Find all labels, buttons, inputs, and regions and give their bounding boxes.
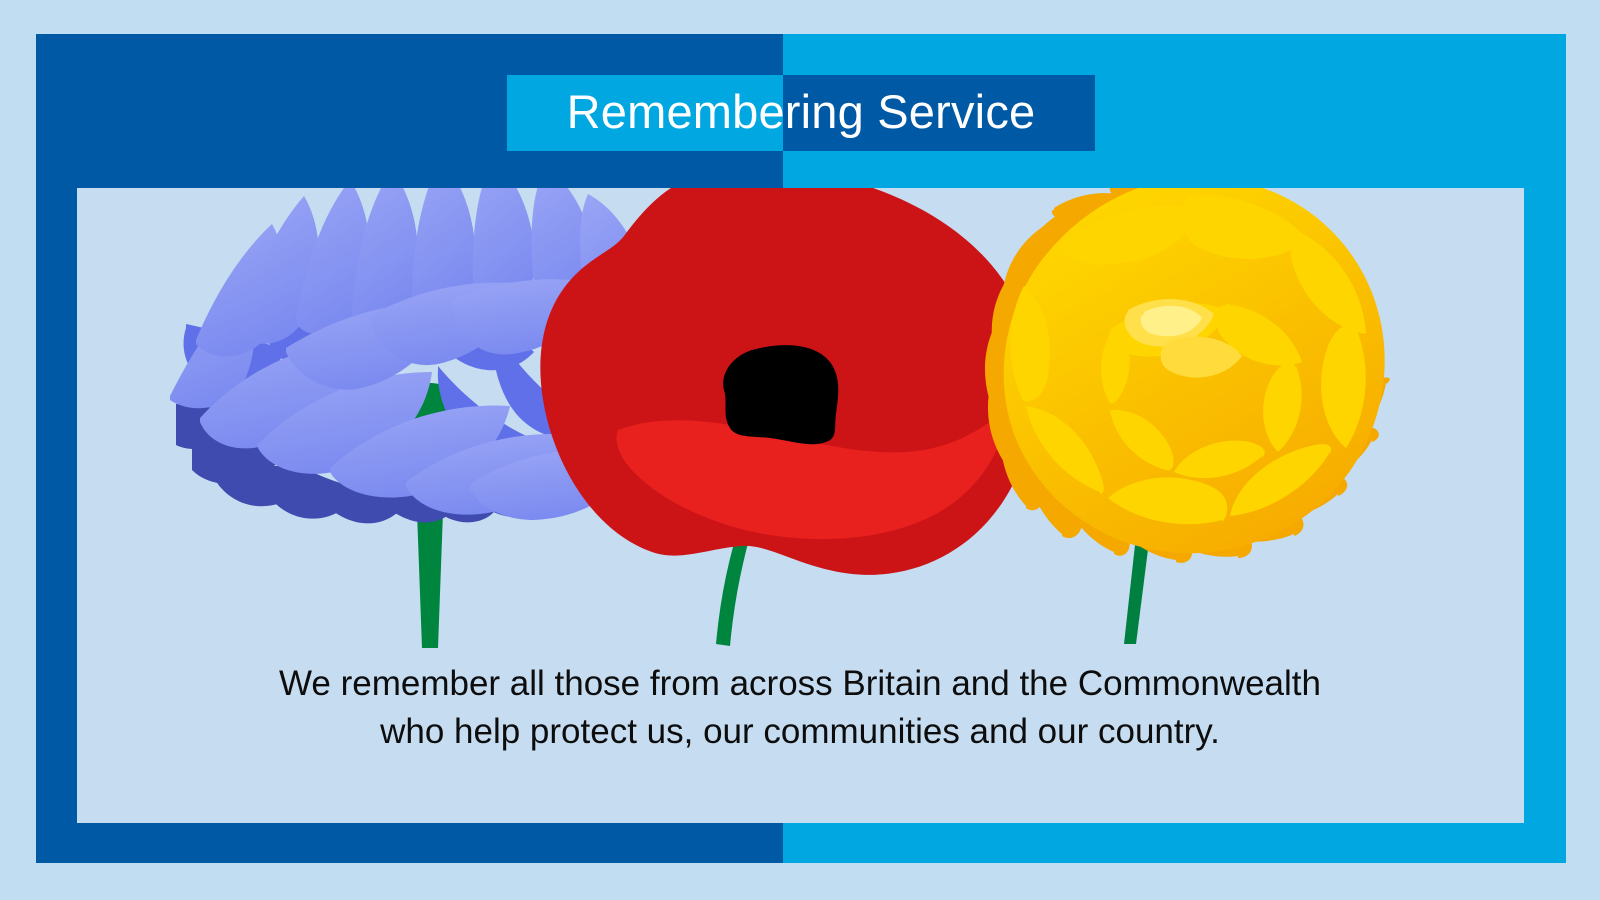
slide-canvas: Remembering Service We remember all thos…	[0, 0, 1600, 900]
caption-line-2: who help protect us, our communities and…	[160, 708, 1440, 756]
page-title: Remembering Service	[507, 75, 1095, 151]
caption-text: We remember all those from across Britai…	[160, 660, 1440, 756]
title-banner: Remembering Service	[507, 75, 1095, 151]
caption-line-1: We remember all those from across Britai…	[160, 660, 1440, 708]
